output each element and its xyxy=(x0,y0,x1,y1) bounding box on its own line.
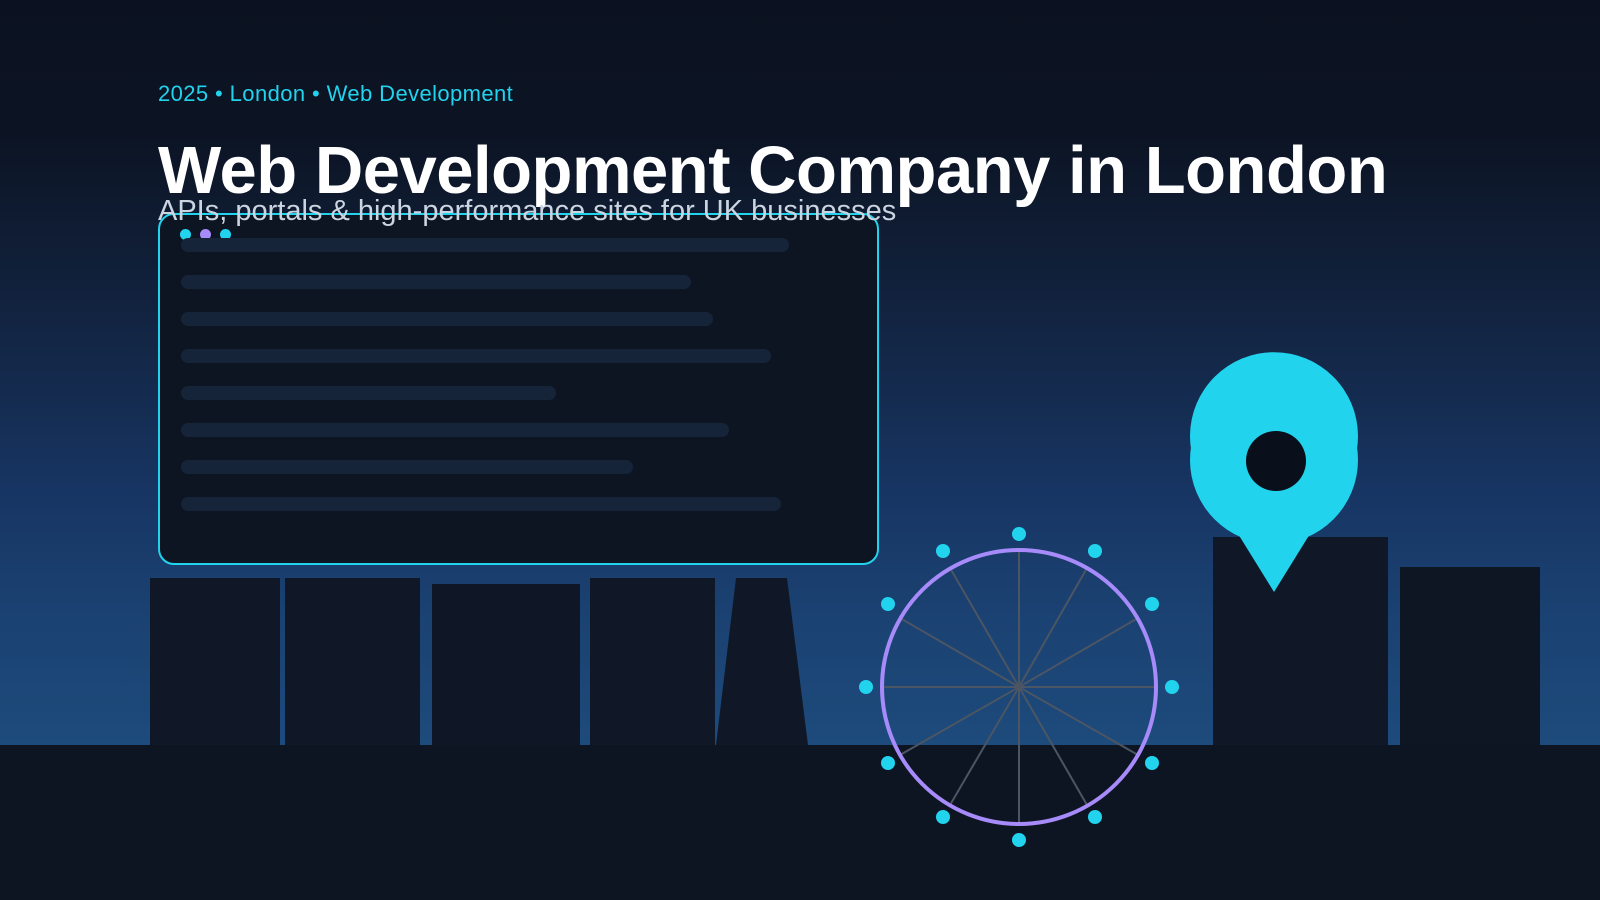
skeleton-line xyxy=(181,312,713,326)
skeleton-line xyxy=(181,349,771,363)
map-pin-hole xyxy=(1246,431,1306,491)
code-preview-card xyxy=(158,213,879,565)
skeleton-line xyxy=(181,386,556,400)
skeleton-line xyxy=(181,460,633,474)
hero-subtitle: APIs, portals & high-performance sites f… xyxy=(158,194,896,229)
skeleton-line xyxy=(181,497,781,511)
hero-eyebrow: 2025 • London • Web Development xyxy=(158,81,513,107)
hero-illustration-canvas: 2025 • London • Web Development Web Deve… xyxy=(0,0,1600,900)
code-skeleton-list xyxy=(181,238,859,534)
skeleton-line xyxy=(181,423,729,437)
skeleton-line xyxy=(181,238,789,252)
skeleton-line xyxy=(181,275,691,289)
